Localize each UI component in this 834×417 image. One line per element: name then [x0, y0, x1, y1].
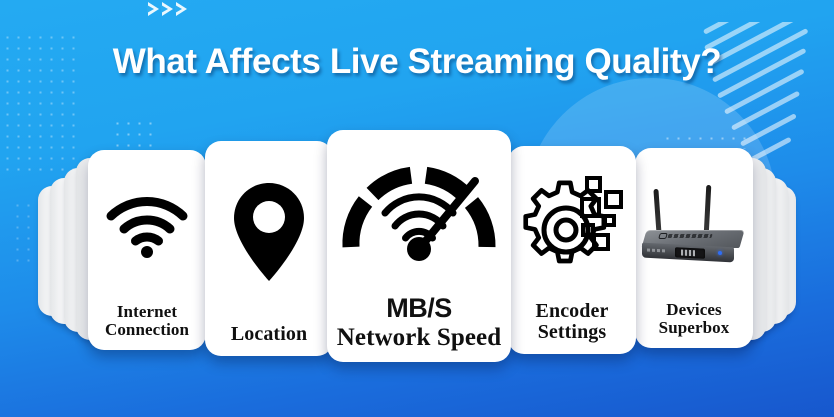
dot-grid-pattern [662, 133, 746, 149]
card-label: Network Speed [337, 325, 501, 351]
play-arrows-icon [148, 2, 187, 16]
wifi-icon [88, 150, 206, 303]
stripe-line [739, 113, 796, 147]
card-internet-connection[interactable]: Internet Connection [88, 150, 206, 350]
card-label: Devices Superbox [659, 301, 730, 336]
gear-pixels-icon [508, 146, 636, 301]
stripe-line [703, 22, 810, 35]
speed-unit-label: MB/S [386, 293, 452, 324]
infographic-canvas: What Affects Live Streaming Quality? Int… [0, 0, 834, 417]
router-superbox-icon [635, 148, 753, 301]
map-pin-icon [205, 141, 333, 324]
card-label: Internet Connection [105, 303, 189, 338]
card-network-speed[interactable]: MB/S Network Speed [327, 130, 511, 362]
dot-grid-pattern [12, 200, 38, 270]
card-label: Encoder Settings [536, 301, 609, 342]
card-encoder-settings[interactable]: Encoder Settings [508, 146, 636, 354]
speedometer-wifi-icon [327, 130, 511, 297]
card-devices-superbox[interactable]: Devices Superbox [635, 148, 753, 348]
card-label: Location [231, 324, 307, 344]
card-location[interactable]: Location [205, 141, 333, 356]
page-title: What Affects Live Streaming Quality? [0, 42, 834, 82]
stripe-line [731, 90, 801, 130]
